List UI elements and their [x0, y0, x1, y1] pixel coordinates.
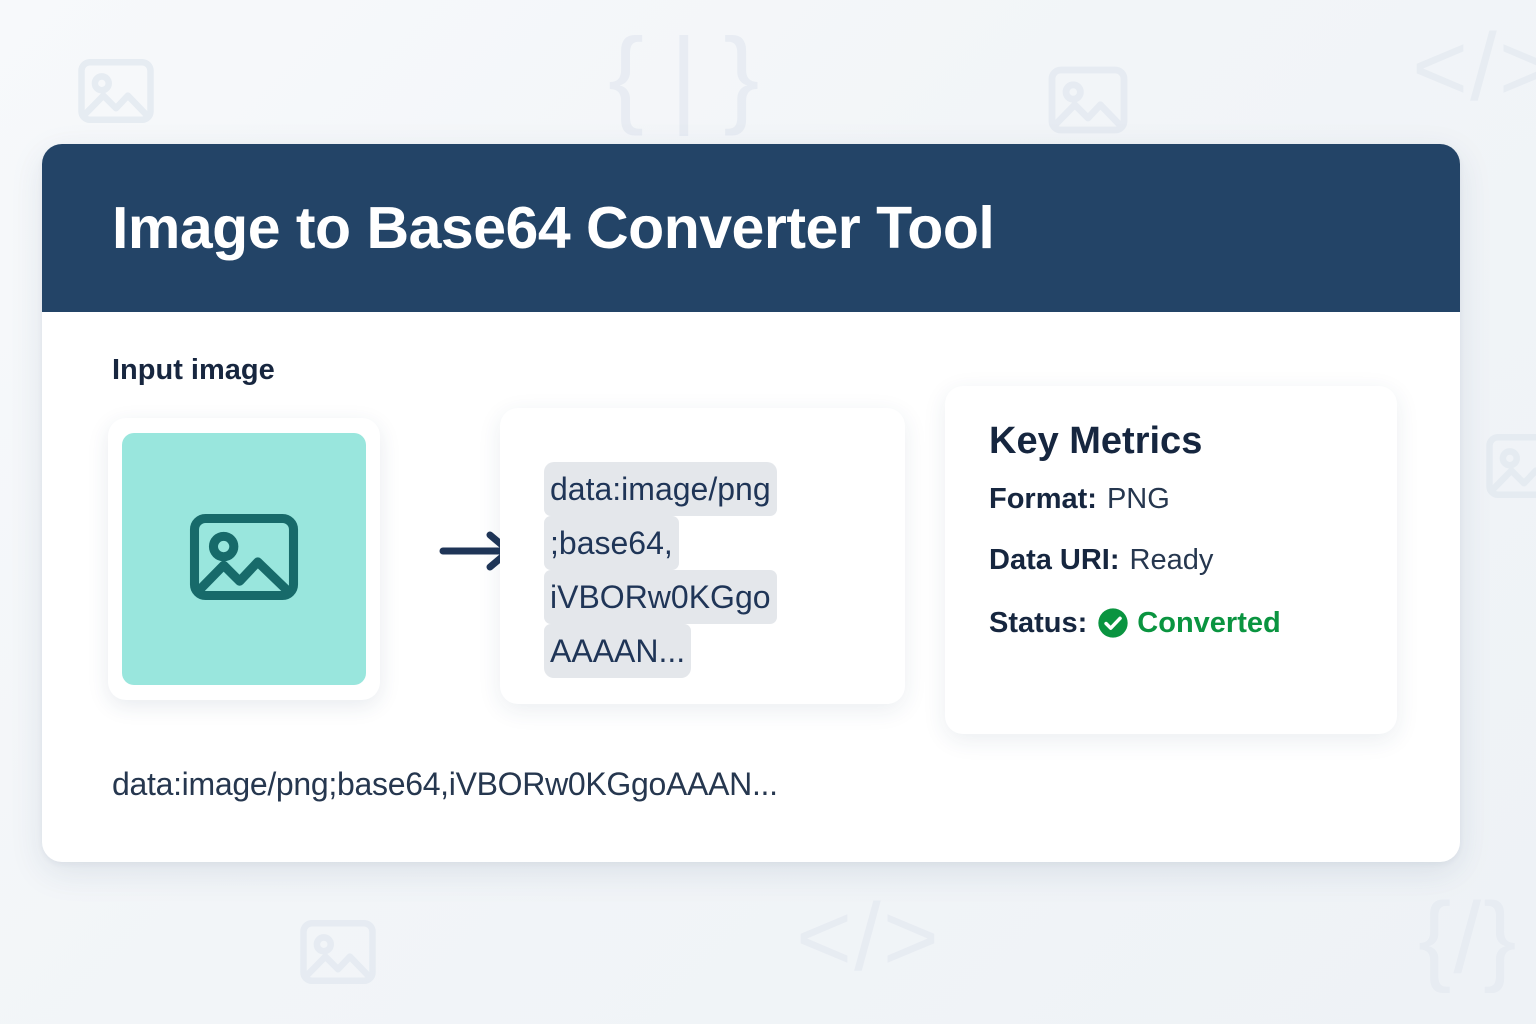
card-header: Image to Base64 Converter Tool: [42, 144, 1460, 312]
metric-value: Ready: [1130, 546, 1214, 575]
page-title: Image to Base64 Converter Tool: [112, 194, 994, 262]
code-tag-icon: </>: [796, 890, 941, 986]
input-image-thumbnail[interactable]: [108, 418, 380, 700]
base64-preview-card[interactable]: data:image/png ;base64, iVBORw0KGgo AAAA…: [500, 408, 905, 704]
code-tag-icon: </>: [1412, 20, 1536, 116]
data-uri-caption: data:image/png;base64,iVBORw0KGgoAAAN...: [112, 766, 778, 803]
code-line: data:image/png: [544, 462, 777, 516]
base64-code-lines: data:image/png ;base64, iVBORw0KGgo AAAA…: [544, 462, 777, 678]
status-badge: Converted: [1137, 609, 1280, 638]
code-line: ;base64,: [544, 516, 679, 570]
key-metrics-title: Key Metrics: [989, 420, 1353, 463]
image-icon: [1040, 52, 1136, 152]
image-icon: [292, 906, 384, 1002]
code-line: AAAAN...: [544, 624, 691, 678]
input-image-label: Input image: [112, 354, 275, 387]
metric-label: Format:: [989, 485, 1097, 514]
metric-row-data-uri: Data URI: Ready: [989, 546, 1353, 575]
card-body: Input image data:image: [42, 312, 1460, 862]
metric-label: Data URI:: [989, 546, 1120, 575]
check-circle-icon: [1097, 607, 1129, 639]
braces-pipe-icon: { | }: [608, 22, 761, 130]
metric-value: PNG: [1107, 485, 1170, 514]
thumbnail-canvas: [122, 433, 366, 685]
metric-label: Status:: [989, 609, 1087, 638]
key-metrics-panel: Key Metrics Format: PNG Data URI: Ready …: [945, 386, 1397, 734]
metric-row-format: Format: PNG: [989, 485, 1353, 514]
image-icon: [1478, 420, 1536, 516]
converter-card: Image to Base64 Converter Tool Input ima…: [42, 144, 1460, 862]
image-icon: [70, 45, 162, 141]
metric-row-status: Status: Converted: [989, 607, 1353, 639]
code-line: iVBORw0KGgo: [544, 570, 777, 624]
image-icon: [178, 491, 310, 628]
braces-slash-icon: {/}: [1418, 888, 1519, 988]
